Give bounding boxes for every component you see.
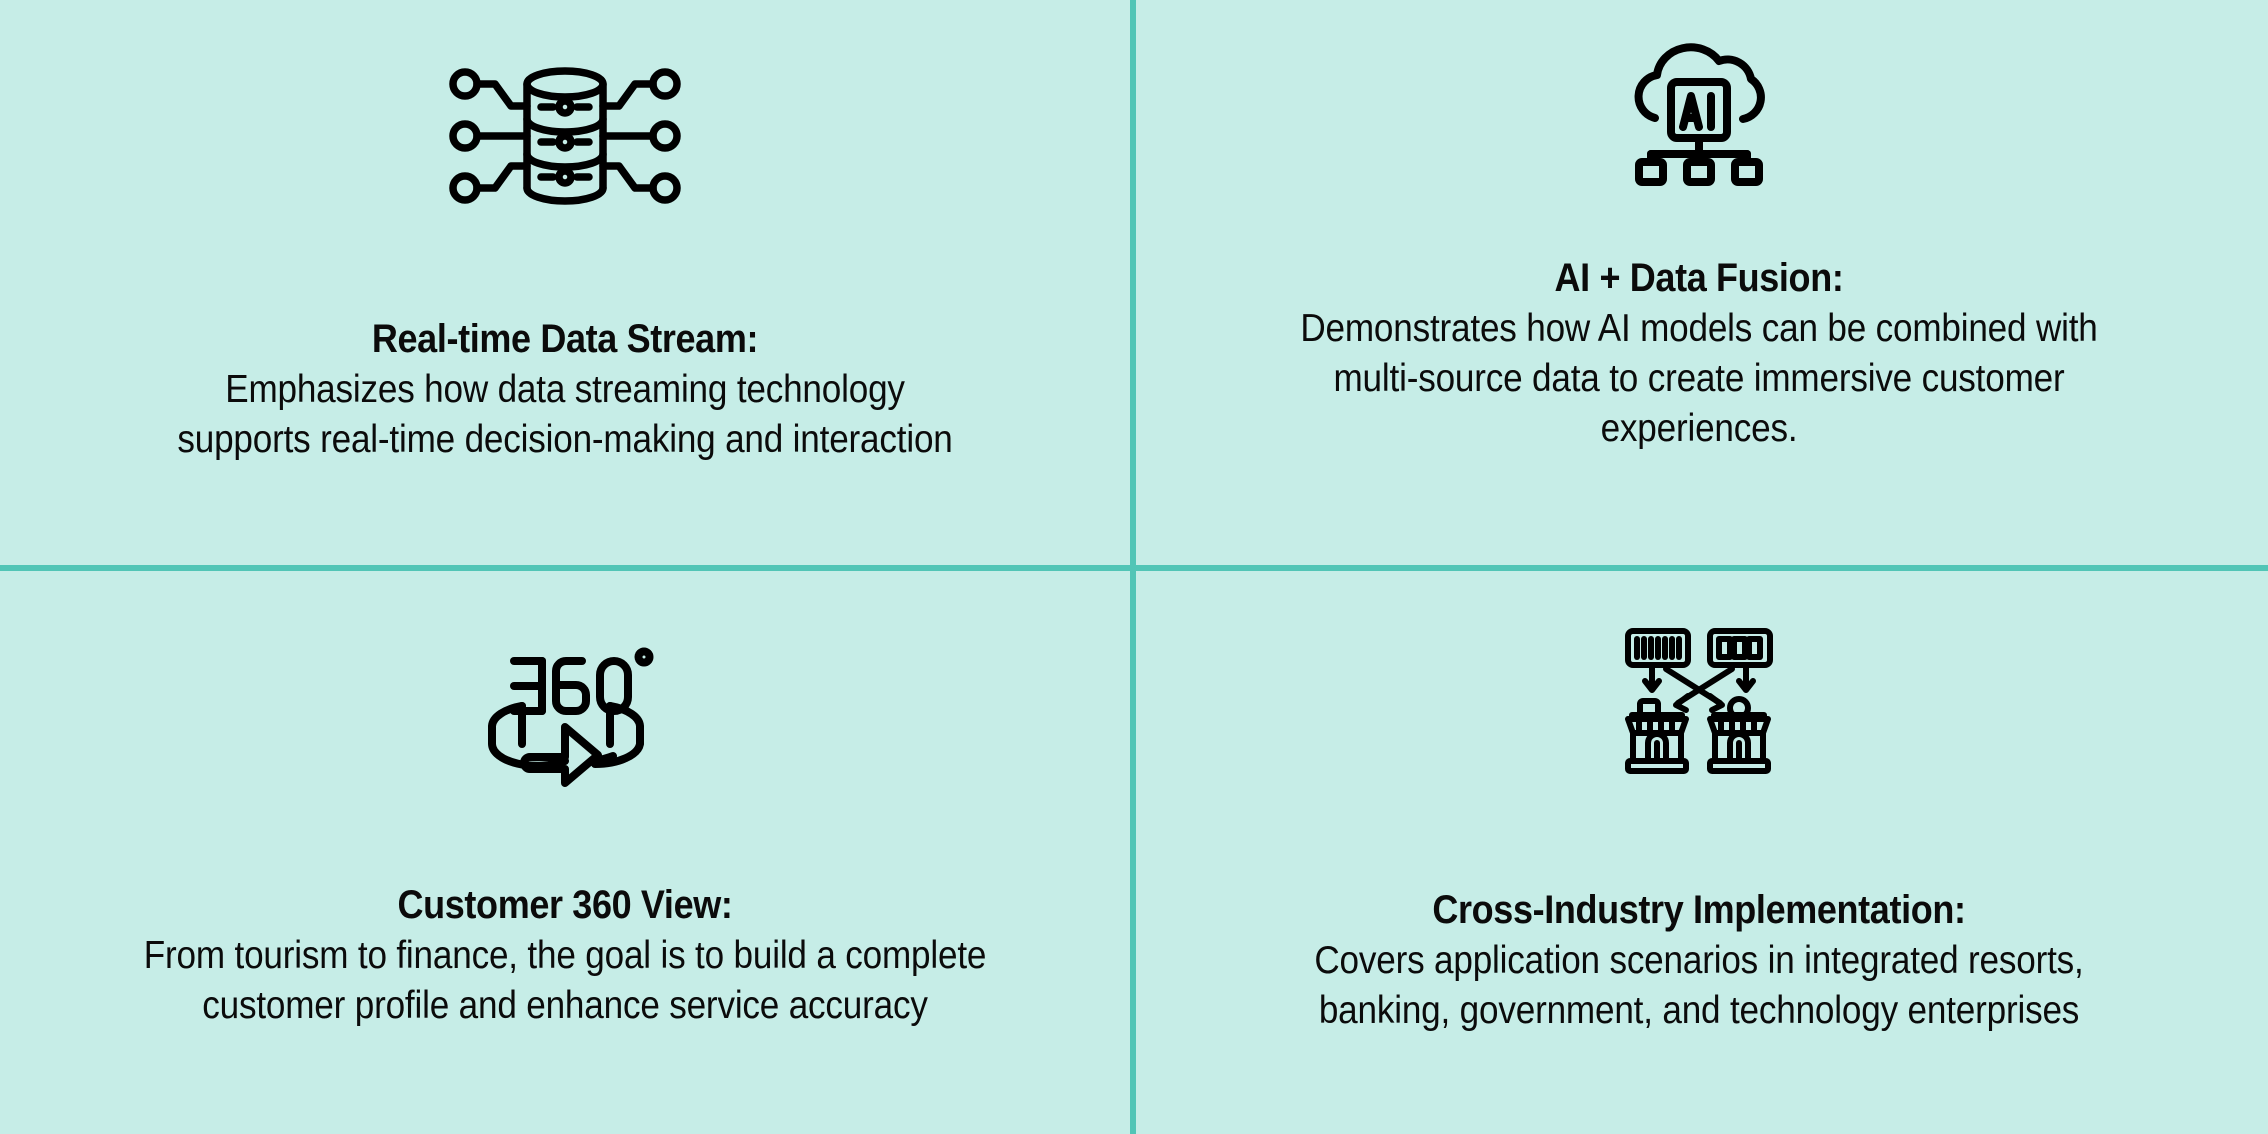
quadrant-customer-360-view: Customer 360 View: From tourism to finan… (0, 565, 1130, 1134)
database-network-icon (0, 0, 1130, 210)
quadrant-body: Covers application scenarios in integrat… (1223, 936, 2175, 1036)
body-line: Demonstrates how AI models can be combin… (1223, 304, 2175, 354)
body-line: Covers application scenarios in integrat… (1223, 936, 2175, 986)
quadrant-body: Demonstrates how AI models can be combin… (1223, 304, 2175, 454)
quadrant-cross-industry-implementation: Cross-Industry Implementation: Covers ap… (1130, 565, 2268, 1134)
quadrant-text-block: Real-time Data Stream: Emphasizes how da… (0, 314, 1130, 465)
quadrant-title: Real-time Data Stream: (93, 314, 1038, 365)
quadrant-text-block: AI + Data Fusion: Demonstrates how AI mo… (1130, 253, 2268, 454)
cross-industry-exchange-icon (1130, 565, 2268, 779)
quadrant-ai-data-fusion: AI + Data Fusion: Demonstrates how AI mo… (1130, 0, 2268, 565)
quadrant-body: Emphasizes how data streaming technology… (93, 365, 1038, 465)
quadrant-title: Cross-Industry Implementation: (1223, 885, 2175, 936)
quadrant-real-time-data-stream: Real-time Data Stream: Emphasizes how da… (0, 0, 1130, 565)
feature-grid: Real-time Data Stream: Emphasizes how da… (0, 0, 2268, 1134)
quadrant-text-block: Customer 360 View: From tourism to finan… (0, 880, 1130, 1031)
quadrant-title: Customer 360 View: (93, 880, 1038, 931)
body-line: experiences. (1223, 404, 2175, 454)
quadrant-body: From tourism to finance, the goal is to … (93, 931, 1038, 1031)
grid-divider-horizontal (0, 565, 2268, 571)
body-line: supports real-time decision-making and i… (93, 415, 1038, 465)
quadrant-title: AI + Data Fusion: (1223, 253, 2175, 304)
body-line: Emphasizes how data streaming technology (93, 365, 1038, 415)
body-line: customer profile and enhance service acc… (93, 981, 1038, 1031)
three-sixty-rotation-icon (0, 565, 1130, 788)
ai-cloud-network-icon (1130, 0, 2268, 187)
body-line: multi-source data to create immersive cu… (1223, 354, 2175, 404)
body-line: From tourism to finance, the goal is to … (93, 931, 1038, 981)
quadrant-text-block: Cross-Industry Implementation: Covers ap… (1130, 885, 2268, 1036)
body-line: banking, government, and technology ente… (1223, 986, 2175, 1036)
